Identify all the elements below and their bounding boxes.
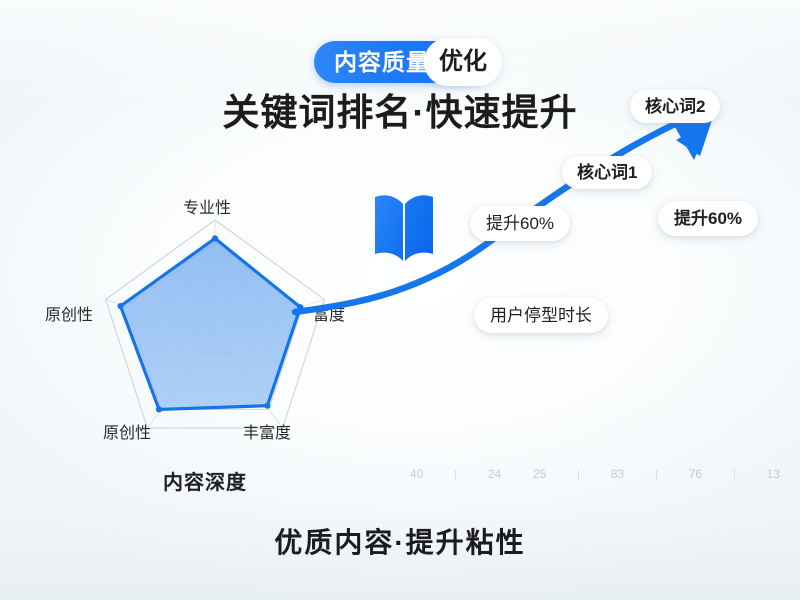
tick-mark xyxy=(578,470,579,479)
tick-mark xyxy=(734,470,735,479)
badge-sub-pill[interactable]: 优化 xyxy=(424,38,502,86)
callout-dwell-time[interactable]: 用户停型时长 xyxy=(474,298,608,333)
open-book-icon xyxy=(371,183,437,265)
callout-label: 提升60% xyxy=(486,215,554,232)
content-depth-label: 内容深度 xyxy=(163,466,247,495)
badge-sub-label: 优化 xyxy=(439,50,487,74)
callout-core-keyword-2[interactable]: 核心词2 xyxy=(630,90,720,123)
badge-main-label: 内容质量 xyxy=(334,51,430,74)
radar-axis-label-0: 专业性 xyxy=(183,201,231,217)
radar-svg xyxy=(45,215,390,465)
tick-value-1: 24 xyxy=(488,468,501,480)
tick-value-4: 76 xyxy=(689,468,702,480)
tick-value-5: 13 xyxy=(767,468,780,480)
faint-axis-ticks: 40 24 25 83 76 13 xyxy=(410,463,780,485)
callout-label: 核心词2 xyxy=(645,98,705,115)
callout-increase-left[interactable]: 提升60% xyxy=(470,206,570,241)
callout-increase-right[interactable]: 提升60% xyxy=(658,201,758,236)
radar-axis-label-3: 原创性 xyxy=(103,426,151,442)
radar-axis-label-1: 富度 xyxy=(313,308,345,324)
callout-label: 提升60% xyxy=(674,210,742,227)
content-quality-badge[interactable]: 内容质量 优化 xyxy=(314,41,486,83)
badge-container: 内容质量 优化 xyxy=(0,41,800,83)
tick-mark xyxy=(656,470,657,479)
radar-chart: 专业性 富度 丰富度 原创性 原创性 xyxy=(45,215,390,465)
callout-label: 用户停型时长 xyxy=(490,307,592,324)
radar-axis-label-2: 丰富度 xyxy=(243,426,291,442)
callout-core-keyword-1[interactable]: 核心词1 xyxy=(562,156,652,189)
poster-canvas: 内容质量 优化 关键词排名·快速提升 xyxy=(0,0,800,600)
radar-axis-label-4: 原创性 xyxy=(45,308,93,324)
tick-value-3: 83 xyxy=(611,468,624,480)
tick-value-2: 25 xyxy=(533,468,546,480)
footer-caption: 优质内容·提升粘性 xyxy=(0,521,800,561)
callout-label: 核心词1 xyxy=(577,164,637,181)
tick-mark xyxy=(455,470,456,479)
radar-series-area xyxy=(121,238,301,409)
tick-value-0: 40 xyxy=(410,468,423,480)
